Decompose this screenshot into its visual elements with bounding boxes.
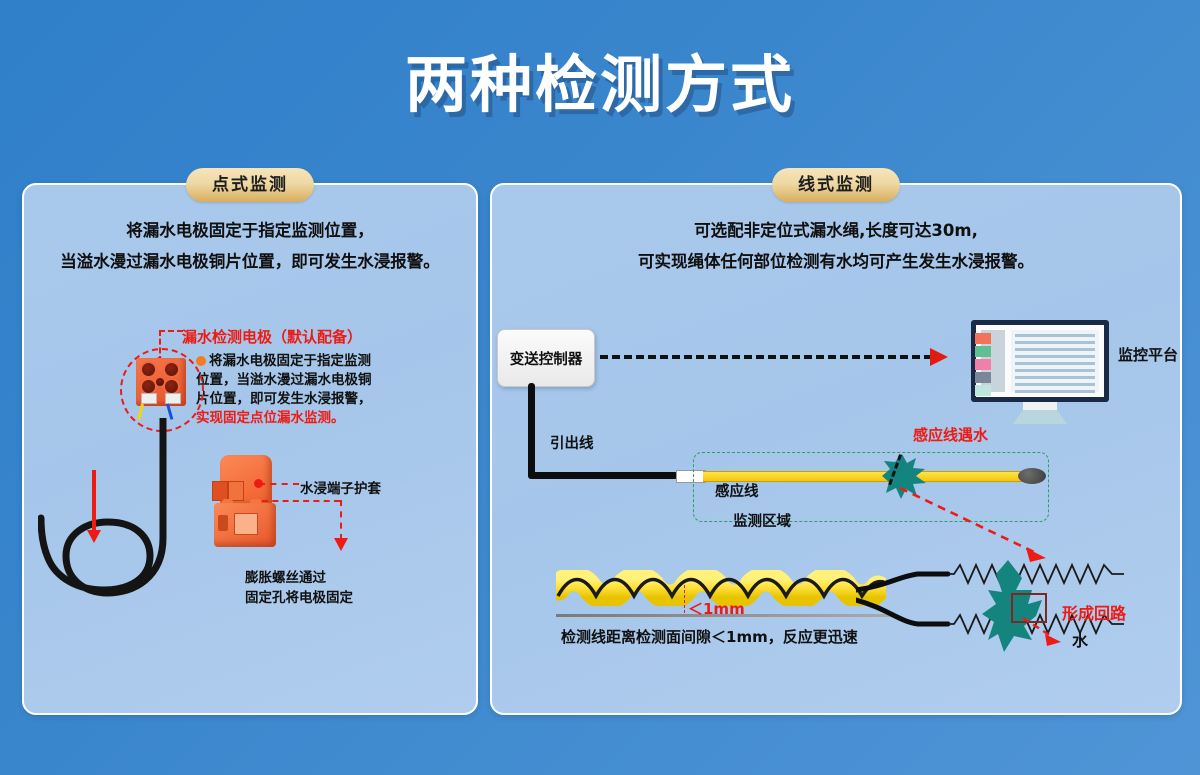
screw-leader-arrow: [334, 538, 348, 551]
electrode-port-4: [165, 380, 178, 393]
left-panel-badge: 点式监测: [186, 168, 314, 202]
monitor-swatch-4: [975, 372, 991, 383]
right-panel-description: 可选配非定位式漏水绳,长度可达30m, 可实现绳体任何部位检测有水均可产生发生水…: [492, 215, 1180, 277]
electrode-leader-horizontal: [159, 330, 183, 332]
left-desc-line-2: 当溢水漫过漏水电极铜片位置，即可发生水浸报警。: [24, 246, 476, 277]
electrode-port-1: [142, 363, 155, 376]
coiled-black-cable: [38, 418, 188, 618]
rope-caption: 检测线距离检测面间隙＜1mm，反应更迅速: [561, 626, 858, 647]
monitor-content-line: [1015, 383, 1095, 386]
screw-leader-horizontal: [262, 500, 340, 502]
lead-wire-label: 引出线: [550, 432, 594, 453]
screw-note-line-1: 膨胀螺丝通过: [245, 568, 425, 588]
monitor-swatch-2: [975, 346, 991, 357]
monitor-neck: [1023, 402, 1057, 410]
left-panel-description: 将漏水电极固定于指定监测位置， 当溢水漫过漏水电极铜片位置，即可发生水浸报警。: [24, 215, 476, 277]
sleeve-down-arrow-shaft: [92, 470, 96, 532]
right-desc-line-1: 可选配非定位式漏水绳,长度可达30m,: [492, 215, 1180, 246]
electrode-body-highlight: 实现固定点位漏水监测。: [196, 410, 345, 426]
lead-cable-horizontal: [528, 472, 678, 479]
electrode-callout-body: 将漏水电极固定于指定监测 位置，当溢水漫过漏水电极铜 片位置，即可发生水浸报警，…: [196, 352, 384, 428]
monitor-content-line: [1015, 348, 1095, 351]
monitor-content-area: [1011, 330, 1099, 392]
monitor-swatch-1: [975, 333, 991, 344]
monitor-content-line: [1015, 334, 1095, 337]
monitor-content-line: [1015, 341, 1095, 344]
page-title: 两种检测方式: [0, 34, 1200, 124]
right-desc-line-2: 可实现绳体任何部位检测有水均可产生发生水浸报警。: [492, 246, 1180, 277]
electrode-slot-1: [141, 393, 157, 404]
splash-to-circuit-arrow: [896, 486, 1056, 570]
electrode-center-port: [156, 378, 164, 386]
sensing-wire-label: 感应线: [715, 480, 759, 501]
electrode-slot-2: [165, 393, 181, 404]
waterproof-terminal-sleeve: [208, 455, 278, 551]
monitor-content-line: [1015, 355, 1095, 358]
monitor-stand: [1013, 410, 1067, 424]
water-arrow-icon: [1021, 616, 1069, 648]
leak-electrode-terminal-block: [136, 358, 186, 406]
transmitter-controller-label: 变送控制器: [510, 348, 583, 369]
lead-cable-vertical: [528, 383, 535, 477]
monitor-content-line: [1015, 390, 1095, 393]
screw-note-line-2: 固定孔将电极固定: [245, 588, 425, 608]
signal-arrow-icon: [930, 348, 948, 366]
electrode-body-line-2: 位置，当溢水漫过漏水电极铜: [196, 372, 372, 388]
monitor-content-line: [1015, 369, 1095, 372]
electrode-callout-title: 漏水检测电极（默认配备）: [182, 326, 362, 347]
screw-mounting-note: 膨胀螺丝通过 固定孔将电极固定: [245, 568, 425, 608]
screw-leader-vertical: [340, 500, 342, 540]
monitor-swatch-3: [975, 359, 991, 370]
electrode-port-3: [142, 380, 155, 393]
splash-label: 感应线遇水: [913, 424, 988, 445]
gap-measure-label: ＜1mm: [688, 598, 745, 619]
poster-canvas: 两种检测方式 点式监测 将漏水电极固定于指定监测位置， 当溢水漫过漏水电极铜片位…: [0, 0, 1200, 775]
monitor-content-line: [1015, 362, 1095, 365]
orange-bullet-icon: [196, 356, 206, 366]
electrode-body-line-1: 将漏水电极固定于指定监测: [209, 353, 371, 369]
gap-measure-dashed-line: [684, 585, 685, 613]
sleeve-mounting-hole: [218, 515, 228, 531]
monitoring-zone-label: 监测区域: [733, 510, 791, 531]
sleeve-label: 水浸端子护套: [300, 477, 381, 497]
sleeve-cap-slot-1: [212, 481, 228, 501]
electrode-body-line-3: 片位置，即可发生水浸报警，: [196, 391, 372, 407]
sleeve-down-arrow-head: [87, 530, 101, 543]
sleeve-label-leader: [259, 483, 299, 485]
monitoring-platform-monitor: [971, 320, 1109, 424]
signal-dashed-line: [600, 355, 932, 359]
sleeve-cap-slot-2: [228, 481, 244, 501]
electrode-port-2: [165, 363, 178, 376]
monitor-swatch-5: [975, 385, 991, 396]
water-label: 水: [1072, 627, 1088, 651]
transmitter-controller-box: 变送控制器: [497, 329, 595, 387]
left-desc-line-1: 将漏水电极固定于指定监测位置，: [24, 215, 476, 246]
monitor-content-line: [1015, 376, 1095, 379]
right-panel-badge: 线式监测: [772, 168, 900, 202]
monitoring-platform-label: 监控平台: [1118, 344, 1178, 365]
monitor-screen: [971, 320, 1109, 402]
sleeve-window: [234, 513, 258, 535]
circuit-loop-label: 形成回路: [1062, 600, 1126, 624]
